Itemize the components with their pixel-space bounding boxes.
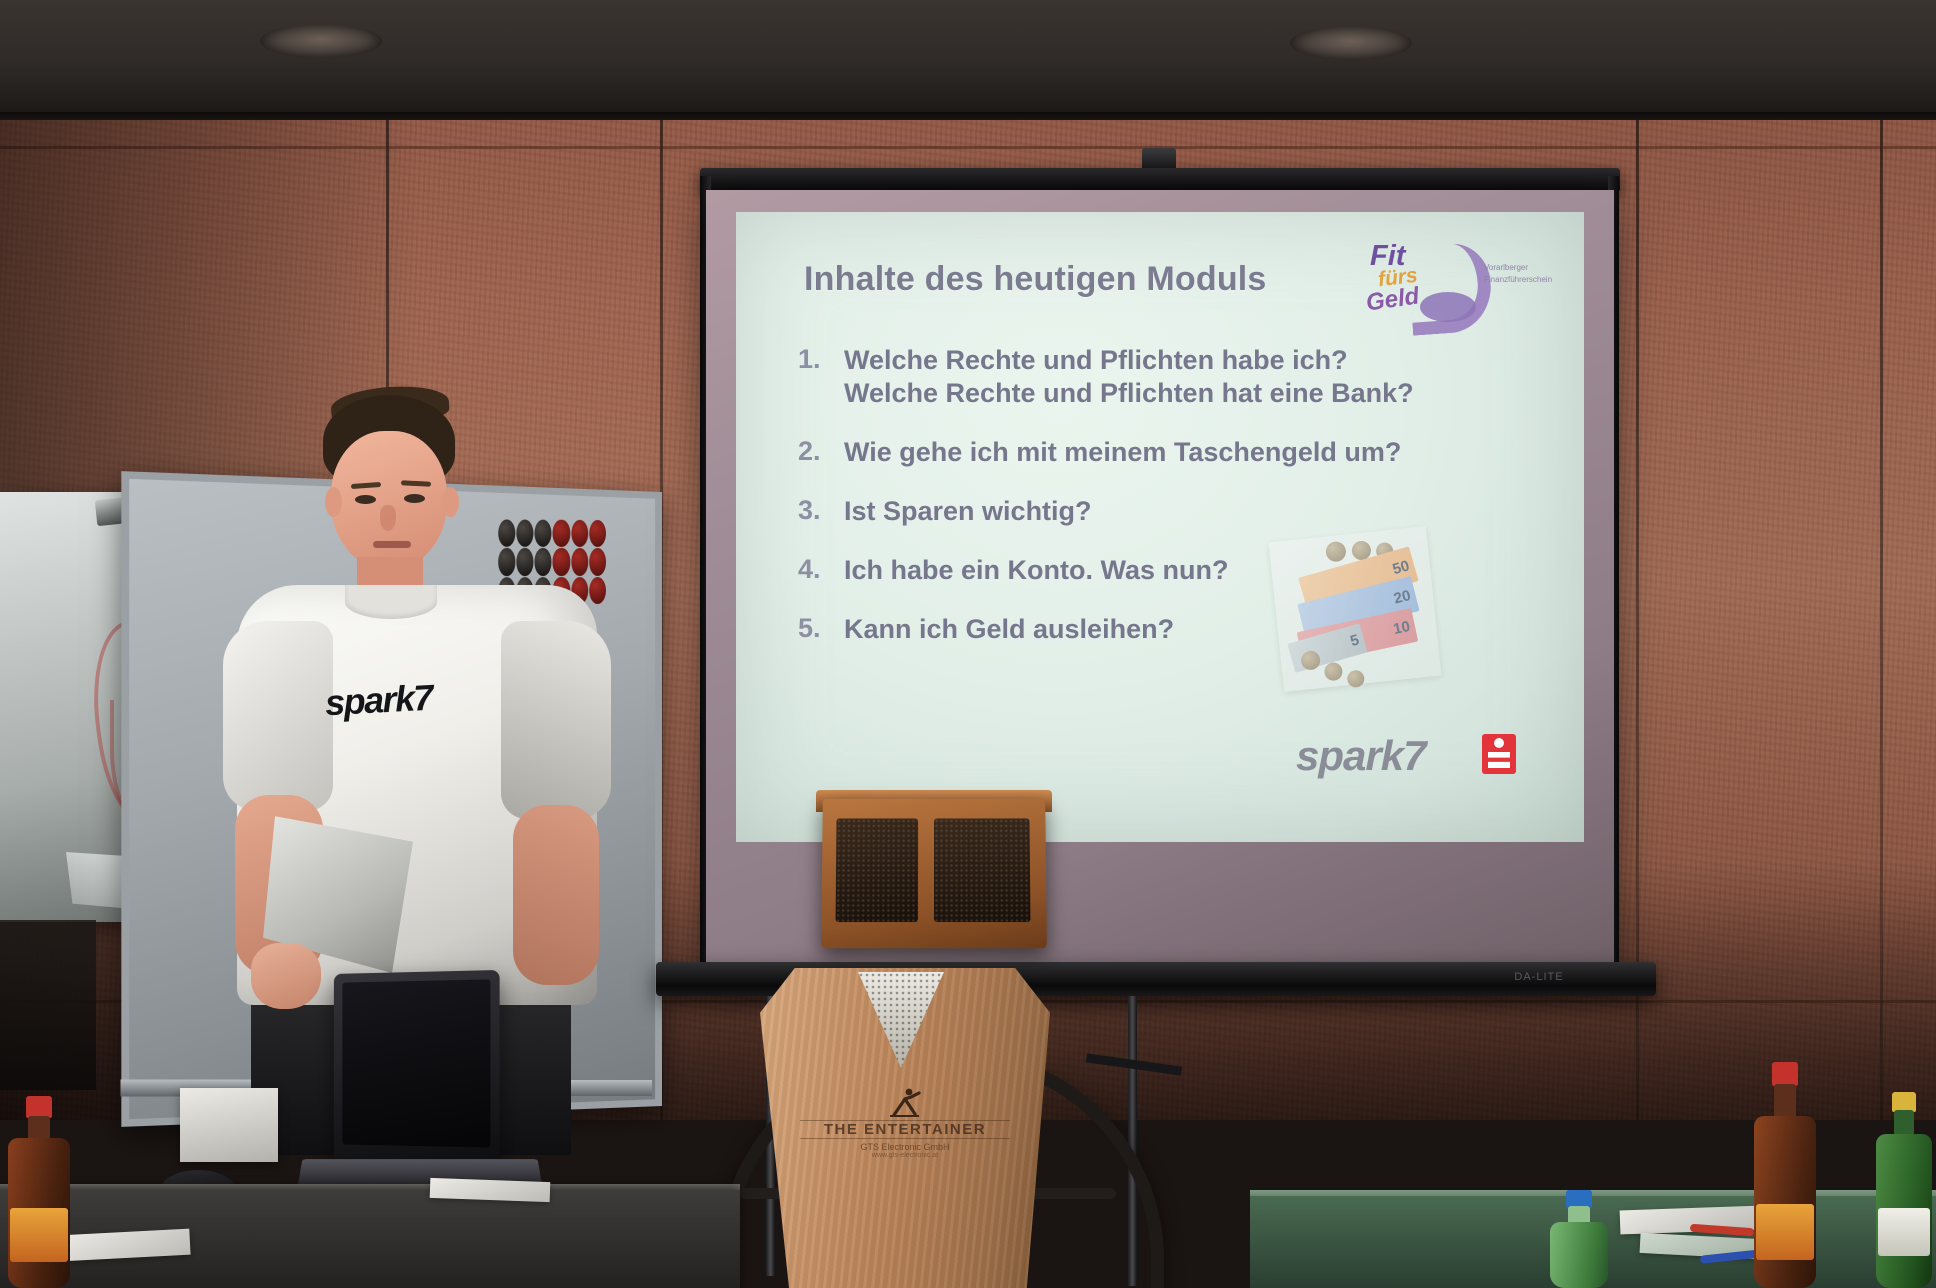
nose: [380, 505, 396, 531]
projected-slide: Inhalte des heutigen Moduls Fit fürs Gel…: [736, 212, 1584, 842]
slide-list-text: Welche Rechte und Pflichten habe ich?Wel…: [844, 344, 1414, 410]
slide-list-number: 5.: [798, 613, 844, 646]
slide-list-item: 2.Wie gehe ich mit meinem Taschengeld um…: [798, 436, 1498, 469]
ceiling: [0, 0, 1936, 120]
spark7-logo: spark7: [1296, 732, 1516, 784]
slide-list-item: 3.Ist Sparen wichtig?: [798, 495, 1498, 528]
tshirt-collar: [345, 585, 437, 619]
bottle-label: [1878, 1208, 1930, 1256]
sleeve-left: [223, 621, 333, 811]
coin-icon: [1346, 669, 1365, 688]
arm-right: [513, 805, 599, 985]
slide-list-line: Ich habe ein Konto. Was nun?: [844, 555, 1229, 585]
screen-brand-label: DA-LITE: [1484, 968, 1594, 986]
laptop-screen: [342, 979, 490, 1147]
laptop-lid[interactable]: [334, 970, 500, 1162]
lectern-website: www.gts-electronic.at: [800, 1152, 1010, 1159]
ceiling-light-left: [260, 24, 382, 58]
bottle-right-2[interactable]: [1874, 1092, 1934, 1288]
photo-scene: Inhalte des heutigen Moduls Fit fürs Gel…: [0, 0, 1936, 1288]
lectern-company: GTS Electronic GmbH: [800, 1142, 1010, 1152]
bottle-left[interactable]: [6, 1096, 72, 1288]
tshirt-wordmark: spark7: [324, 677, 433, 724]
slide-list-text: Kann ich Geld ausleihen?: [844, 613, 1174, 646]
slide-list-item: 1.Welche Rechte und Pflichten habe ich?W…: [798, 344, 1498, 410]
mouth: [373, 541, 411, 548]
bottle-cap: [26, 1096, 52, 1118]
slide-list-text: Ist Sparen wichtig?: [844, 495, 1092, 528]
slide-list-line: Welche Rechte und Pflichten hat eine Ban…: [844, 377, 1414, 410]
speaker-grill-right: [934, 818, 1030, 922]
bottle-neck: [1774, 1084, 1796, 1120]
bottle-right-3[interactable]: [1548, 1190, 1610, 1288]
bottle-cap: [1892, 1092, 1916, 1112]
slide-list-line: Kann ich Geld ausleihen?: [844, 614, 1174, 644]
speaker-box: [821, 799, 1047, 948]
screen-case: [700, 168, 1620, 192]
bottle-body: [1754, 1116, 1816, 1288]
slide-list-number: 4.: [798, 554, 844, 587]
bottle-cap: [1772, 1062, 1798, 1086]
eye-left: [355, 495, 376, 504]
sleeve-right: [501, 621, 611, 819]
slide-list-text: Ich habe ein Konto. Was nun?: [844, 554, 1229, 587]
slide-list-line: Ist Sparen wichtig?: [844, 496, 1092, 526]
bottle-body: [1550, 1222, 1608, 1288]
sparkasse-s-icon: [1482, 734, 1516, 774]
slide-list-line: Welche Rechte und Pflichten habe ich?: [844, 345, 1348, 375]
ceiling-light-right: [1290, 26, 1412, 60]
paper-sheet: [430, 1178, 551, 1202]
head: [331, 431, 447, 569]
lectern-branding: THE ENTERTAINER GTS Electronic GmbH www.…: [800, 1088, 1010, 1159]
ear-left: [325, 487, 342, 517]
hand-left: [251, 943, 321, 1009]
lectern-brand-name: THE ENTERTAINER: [800, 1120, 1010, 1139]
speaker-mesh: [836, 818, 919, 922]
bottle-right-1[interactable]: [1752, 1062, 1818, 1288]
bottle-label: [10, 1208, 68, 1262]
slide-list-number: 1.: [798, 344, 844, 410]
slide-list-line: Wie gehe ich mit meinem Taschengeld um?: [844, 437, 1401, 467]
bottle-label: [1756, 1204, 1814, 1260]
ear-right: [442, 487, 459, 517]
eye-right: [404, 494, 425, 503]
slide-list-number: 2.: [798, 436, 844, 469]
white-box: [180, 1088, 278, 1162]
logo-subtitle: Vorarlberger Finanzführerschein: [1484, 262, 1564, 286]
fit-fuers-geld-logo: Fit fürs Geld Vorarlberger Finanzführers…: [1364, 240, 1544, 326]
speaker-grill-left: [836, 818, 919, 922]
slide-list-number: 3.: [798, 495, 844, 528]
spark7-wordmark: spark7: [1296, 732, 1425, 779]
slide-title: Inhalte des heutigen Moduls: [804, 260, 1267, 299]
euro-money-photo: 50 20 10 5: [1269, 526, 1442, 692]
flipchart-stand: [0, 920, 96, 1090]
speaker-mesh: [934, 818, 1030, 922]
slide-list-text: Wie gehe ich mit meinem Taschengeld um?: [844, 436, 1401, 469]
swoosh-blob-icon: [1420, 292, 1476, 322]
dancer-icon: [888, 1088, 922, 1118]
